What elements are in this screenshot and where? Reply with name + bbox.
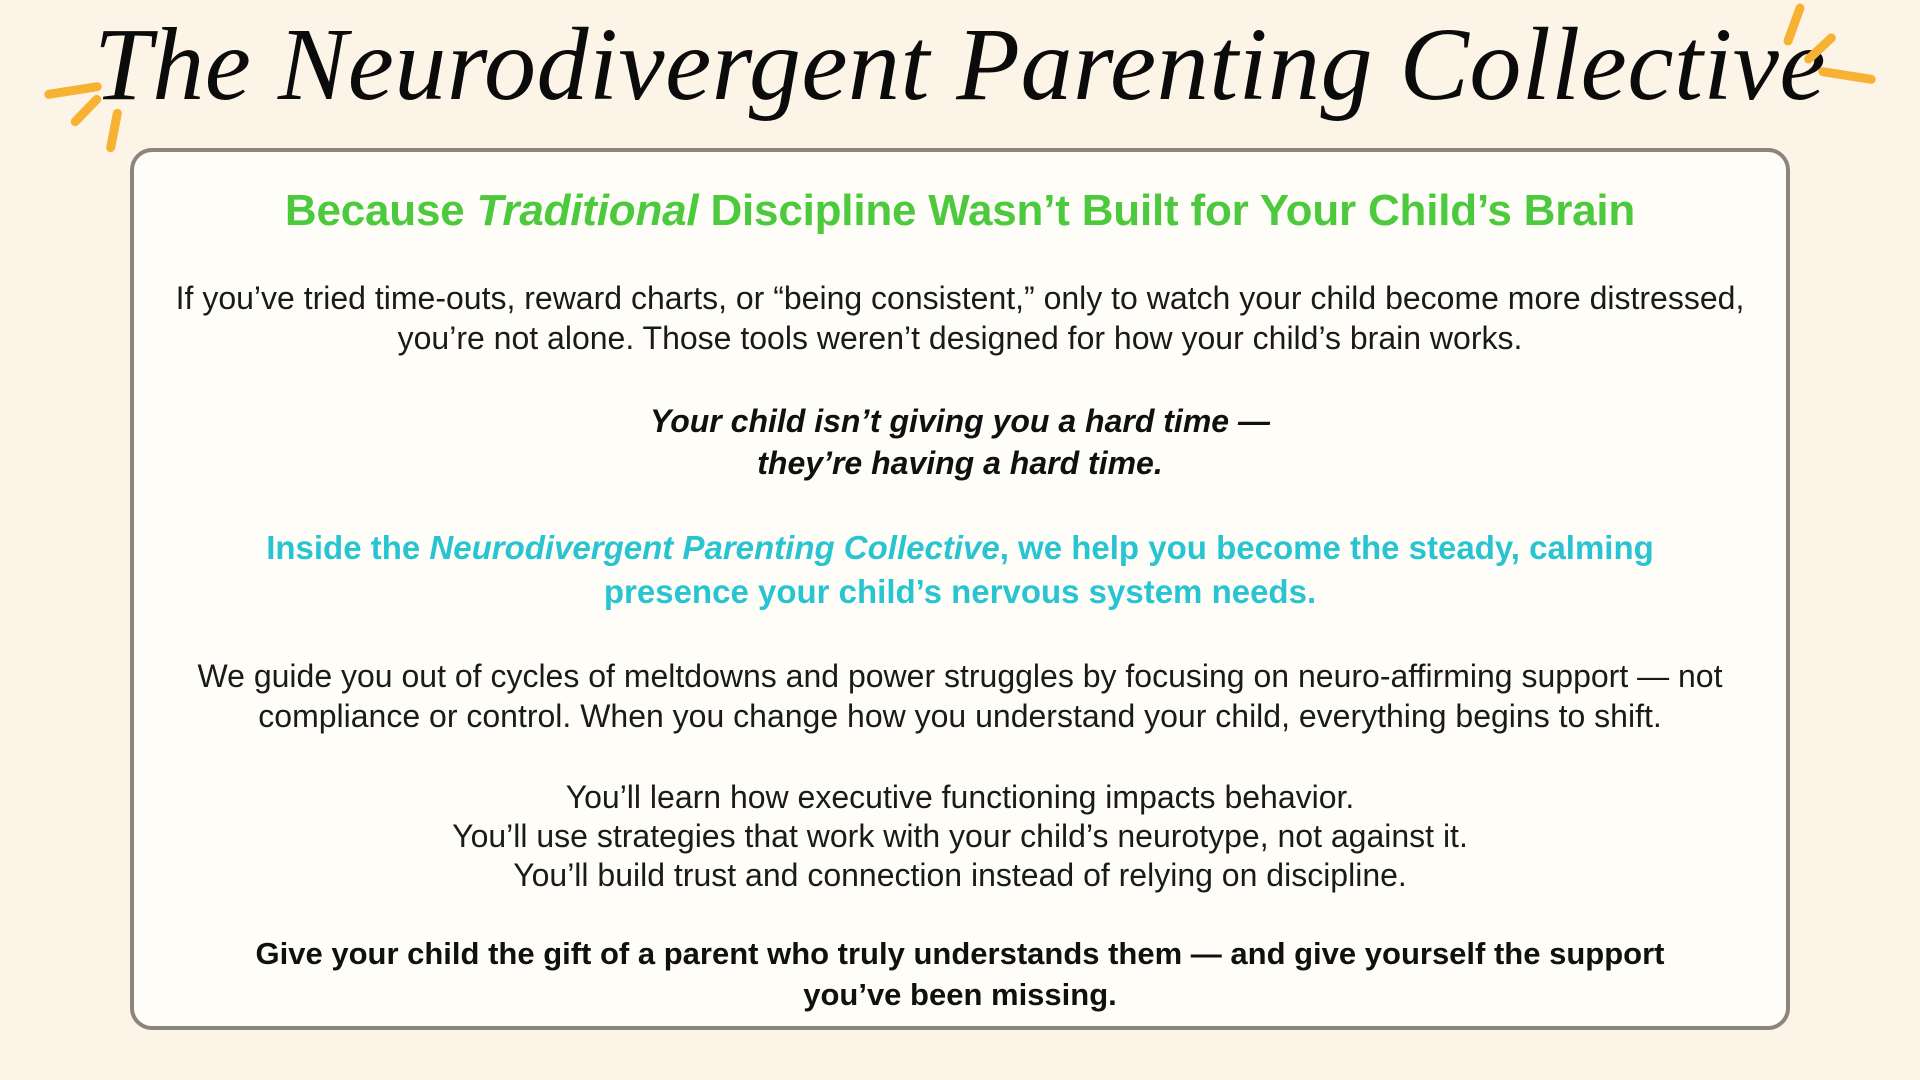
promise-line-3: You’ll build trust and connection instea…	[166, 856, 1754, 895]
page-title: The Neurodivergent Parenting Collective	[0, 6, 1920, 124]
headline-emphasis: Traditional	[477, 186, 699, 235]
intro-paragraph: If you’ve tried time-outs, reward charts…	[166, 278, 1754, 358]
emphasis-line-1: Your child isn’t giving you a hard time …	[166, 400, 1754, 442]
body-paragraph: We guide you out of cycles of meltdowns …	[166, 656, 1754, 736]
accent-statement: Inside the Neurodivergent Parenting Coll…	[166, 526, 1754, 614]
headline-part-2: Discipline Wasn’t Built for Your Child’s…	[698, 186, 1635, 235]
closing-statement: Give your child the gift of a parent who…	[166, 933, 1754, 1015]
content-card: Because Traditional Discipline Wasn’t Bu…	[130, 148, 1790, 1030]
promise-line-2: You’ll use strategies that work with you…	[166, 817, 1754, 856]
promise-line-1: You’ll learn how executive functioning i…	[166, 778, 1754, 817]
promise-list: You’ll learn how executive functioning i…	[166, 778, 1754, 895]
headline-part-1: Because	[285, 186, 477, 235]
page-header: The Neurodivergent Parenting Collective	[0, 0, 1920, 140]
emphasis-line-2: they’re having a hard time.	[166, 442, 1754, 484]
emphasis-statement: Your child isn’t giving you a hard time …	[166, 400, 1754, 484]
card-headline: Because Traditional Discipline Wasn’t Bu…	[166, 184, 1754, 238]
accent-emphasis: Neurodivergent Parenting Collective	[429, 529, 999, 566]
accent-part-1: Inside the	[266, 529, 429, 566]
